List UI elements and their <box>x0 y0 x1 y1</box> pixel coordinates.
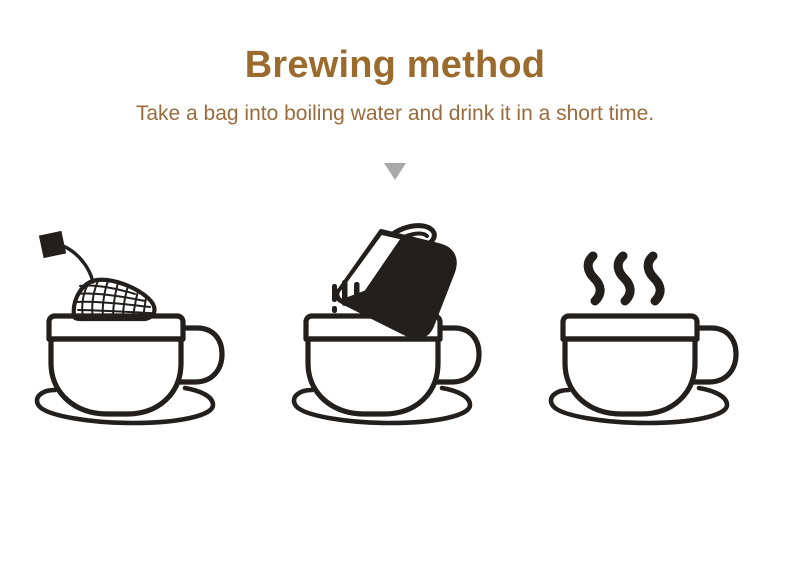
header: Brewing method Take a bag into boiling w… <box>0 0 790 126</box>
brewing-method-page: Brewing method Take a bag into boiling w… <box>0 0 790 579</box>
page-title: Brewing method <box>0 0 790 86</box>
cup-handle-icon <box>694 328 736 382</box>
triangle-down-icon <box>384 163 406 180</box>
step-2-pour-water <box>280 222 510 432</box>
cup-rim-icon <box>563 316 697 339</box>
arrow-down-container <box>0 163 790 180</box>
cup-body-icon <box>565 339 695 414</box>
teabag-string-icon <box>63 246 93 282</box>
cup-body-icon <box>51 339 181 414</box>
steam-wisp-icon <box>648 256 660 301</box>
step-1-teabag <box>17 222 247 432</box>
step-3-steaming-cup <box>543 222 773 432</box>
steam-wisp-icon <box>588 256 600 301</box>
steam-wisp-icon <box>618 256 630 301</box>
steam-wisps-icon <box>588 256 660 301</box>
steps-row <box>0 222 790 432</box>
page-subtitle: Take a bag into boiling water and drink … <box>0 86 790 126</box>
cup-body-icon <box>308 339 438 414</box>
cup-handle-icon <box>180 328 222 382</box>
cup-handle-icon <box>437 328 479 382</box>
teabag-tag-icon <box>40 232 65 257</box>
